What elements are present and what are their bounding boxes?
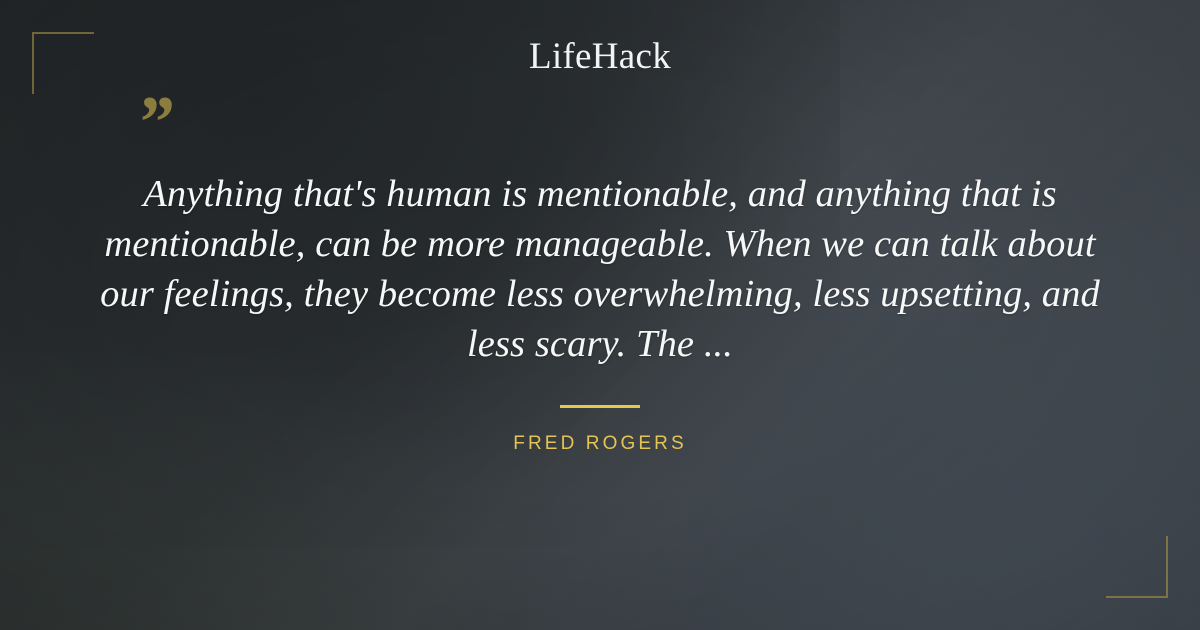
brand-logo: LifeHack <box>529 38 671 75</box>
author-divider <box>560 405 640 408</box>
quote-card: LifeHack ” Anything that's human is ment… <box>0 0 1200 630</box>
card-content: LifeHack ” Anything that's human is ment… <box>0 0 1200 630</box>
quotation-mark-icon: ” <box>84 101 1116 145</box>
quote-text: Anything that's human is mentionable, an… <box>95 169 1105 369</box>
quote-author: FRED ROGERS <box>513 433 686 455</box>
